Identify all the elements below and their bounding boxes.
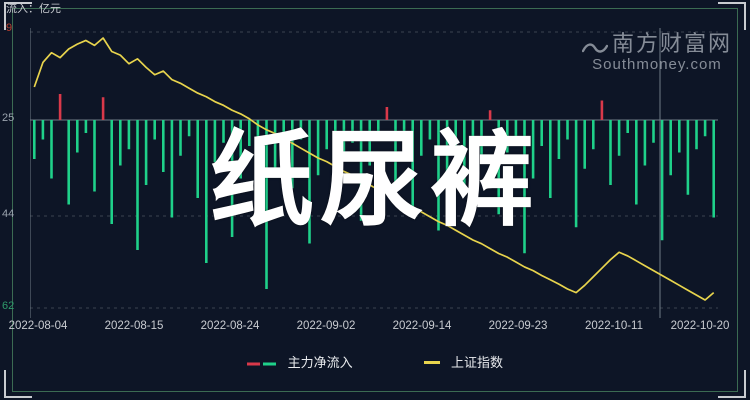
frame-corner-bottom-right [718,370,746,398]
watermark-cn-label: 南方财富网 [612,32,732,57]
legend-item-main-net-inflow[interactable]: 主力净流入 [247,352,353,371]
y-axis-tick-1: 25 [2,112,14,124]
chart-legend: 主力净流入 上证指数 [0,352,750,371]
y-axis-tick-0: 9 [6,22,12,34]
legend-item-shanghai-index[interactable]: 上证指数 [424,352,503,371]
overlay-title: 纸尿裤 [0,128,750,232]
legend-label-main-net-inflow: 主力净流入 [288,355,353,370]
legend-label-shanghai-index: 上证指数 [451,355,503,370]
chart-screenshot: 流入：亿元 9 25 44 62 2022-08-04 2022-08-15 2… [0,0,750,400]
legend-swatch-yellow-icon [424,361,440,364]
frame-corner-bottom-left [4,370,32,398]
legend-swatch-split-icon [247,356,277,371]
watermark-cn-text: 南方财富网 [582,26,732,58]
x-axis-label-6: 2022-10-11 [585,320,643,332]
watermark-en-label: Southmoney.com [582,56,732,73]
x-axis-label-0: 2022-08-04 [9,320,68,332]
y-axis-tick-3: 62 [2,300,14,312]
x-axis-label-4: 2022-09-14 [393,320,452,332]
x-axis-labels: 2022-08-04 2022-08-15 2022-08-24 2022-09… [0,320,750,338]
x-axis-label-1: 2022-08-15 [105,320,164,332]
x-axis-label-2: 2022-08-24 [201,320,260,332]
x-axis-label-5: 2022-09-23 [489,320,548,332]
x-axis-label-3: 2022-09-02 [297,320,356,332]
y-axis-unit-label: 流入：亿元 [6,0,61,16]
watermark: 南方财富网 Southmoney.com [582,26,732,73]
chart-panel: 流入：亿元 9 25 44 62 2022-08-04 2022-08-15 2… [0,0,750,400]
wave-icon [582,37,608,53]
x-axis-label-7: 2022-10-20 [671,320,730,332]
